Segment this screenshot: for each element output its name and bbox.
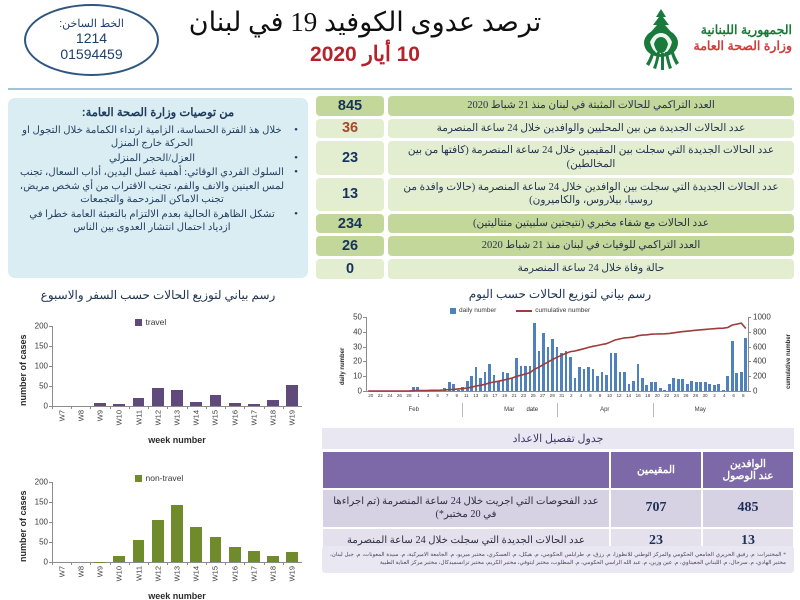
x-tick-label: 2: [570, 393, 573, 398]
bar: [672, 378, 675, 391]
bar: [248, 404, 260, 406]
bar: [229, 547, 241, 562]
bar: [538, 351, 541, 391]
x-tick-label: 20: [655, 393, 660, 398]
x-tick-label: 13: [473, 393, 478, 398]
bar: [210, 395, 222, 406]
secondary-y-axis: [748, 317, 749, 391]
x-tick-label: W16: [230, 410, 239, 425]
page-title: ترصد عدوى الكوفيد 19 في لبنان: [170, 6, 560, 38]
travel-cases-bar-chart: 050100150200W7W8W9W10W11W12W13W14W15W16W…: [8, 306, 308, 446]
bar: [267, 556, 279, 562]
x-tick-label: 20: [368, 393, 373, 398]
y-tick-label: 0: [26, 558, 48, 567]
x-tick-label: W17: [249, 566, 258, 581]
secondary-y-tick-label: 1000: [753, 313, 779, 322]
x-tick-label: W18: [269, 410, 278, 425]
x-tick: [90, 562, 91, 565]
bar: [520, 366, 523, 391]
y-tick-label: 200: [26, 478, 48, 487]
x-tick-label: 5: [436, 393, 439, 398]
bar: [152, 388, 164, 406]
y-tick: [363, 317, 366, 318]
x-tick: [187, 406, 188, 409]
hotline-label: الخط الساخن:: [59, 18, 124, 31]
x-tick: [167, 406, 168, 409]
header-divider: [8, 88, 792, 90]
detail-table: جدول تفصيل الاعداد الوافدين عند الوصول ا…: [322, 428, 794, 554]
bar: [94, 403, 106, 406]
bar: [722, 390, 725, 391]
x-tick-label: W10: [115, 410, 124, 425]
month-label: Apr: [557, 407, 653, 413]
table-row: العدد التراكمي للوفيات في لبنان منذ 21 ش…: [316, 236, 794, 256]
x-tick-label: W17: [249, 410, 258, 425]
bar: [529, 366, 532, 391]
bar: [133, 540, 145, 562]
legend-label-daily: daily number: [459, 307, 496, 314]
hotline-number-primary: 1214: [76, 30, 107, 46]
bar: [645, 385, 648, 391]
bar: [610, 353, 613, 391]
bar: [547, 347, 550, 391]
report-date: 10 أيار 2020: [170, 42, 560, 67]
column-header-arrivals-line2: عند الوصول: [722, 470, 773, 482]
bar: [466, 381, 469, 391]
hotline-number-secondary: 01594459: [60, 46, 122, 62]
x-tick: [244, 562, 245, 565]
bar: [484, 372, 487, 391]
bar: [133, 398, 145, 406]
daily-cases-combo-chart: 0102030405002004006008001000202224262813…: [330, 303, 792, 423]
x-tick-label: 26: [683, 393, 688, 398]
table-row: عدد الحالات الجديدة التي سجلت بين المقيم…: [316, 141, 794, 174]
stat-label: العدد التراكمي للحالات المثبتة في لبنان …: [388, 96, 794, 116]
stat-value: 23: [316, 141, 384, 174]
x-tick-label: 14: [626, 393, 631, 398]
detail-table-header-row: الوافدين عند الوصول المقيمين: [322, 451, 794, 489]
y-tick: [363, 391, 366, 392]
bar: [619, 372, 622, 391]
x-tick-label: W18: [269, 566, 278, 581]
bar: [677, 379, 680, 391]
x-tick-label: W8: [76, 410, 85, 421]
bar: [461, 387, 464, 391]
bar: [497, 381, 500, 391]
bar: [479, 378, 482, 391]
x-tick-label: 26: [397, 393, 402, 398]
bar: [641, 378, 644, 391]
x-tick-label: 15: [483, 393, 488, 398]
bar: [556, 347, 559, 391]
y-tick-label: 0: [26, 402, 48, 411]
bar: [565, 351, 568, 391]
bar: [267, 400, 279, 406]
bar: [686, 384, 689, 391]
y-axis-title: number of cases: [18, 490, 28, 562]
bar: [708, 384, 711, 391]
column-header-arrivals-line1: الوافدين: [722, 458, 773, 470]
x-tick-label: W13: [173, 566, 182, 581]
list-item: خلال هذ الفترة الحساسة، الزامية ارتداء ا…: [18, 124, 298, 151]
bar: [740, 372, 743, 391]
bar: [493, 375, 496, 391]
bar: [587, 367, 590, 391]
x-tick-label: W8: [76, 566, 85, 577]
bar: [614, 353, 617, 391]
stat-value: 0: [316, 259, 384, 279]
x-tick: [71, 406, 72, 409]
bar: [190, 402, 202, 406]
bar: [152, 520, 164, 562]
x-tick-label: W16: [230, 566, 239, 581]
report-page: الخط الساخن: 1214 01594459 ترصد عدوى الك…: [0, 0, 800, 600]
x-tick-label: 11: [464, 393, 469, 398]
y-axis-title: daily number: [340, 348, 346, 385]
stat-label: عدد الحالات الجديدة التي سجلت بين المقيم…: [388, 141, 794, 174]
x-axis-title: week number: [52, 591, 302, 600]
y-axis-title: number of cases: [18, 334, 28, 406]
x-tick-label: W9: [96, 566, 105, 577]
x-tick: [110, 406, 111, 409]
bar: [551, 339, 554, 391]
table-row: عدد الحالات مع شفاء مخبري (نتيجتين سلبيت…: [316, 214, 794, 234]
y-tick: [49, 542, 52, 543]
x-tick: [52, 406, 53, 409]
bar: [475, 367, 478, 391]
x-tick-label: 28: [406, 393, 411, 398]
x-tick-label: W10: [115, 566, 124, 581]
bar: [650, 382, 653, 391]
x-tick-label: 25: [531, 393, 536, 398]
secondary-y-tick-label: 800: [753, 327, 779, 336]
month-separator: [653, 403, 654, 417]
secondary-y-tick: [748, 361, 751, 362]
secondary-y-tick: [748, 347, 751, 348]
x-tick: [187, 562, 188, 565]
bar: [286, 552, 298, 562]
column-header-residents: المقيمين: [610, 451, 702, 489]
legend-label-cumulative: cumulative number: [535, 307, 590, 314]
bar: [524, 366, 527, 391]
table-row: عدد الحالات الجديدة من بين المحليين والو…: [316, 119, 794, 139]
x-tick: [148, 562, 149, 565]
y-tick-label: 50: [340, 313, 362, 322]
bar: [248, 551, 260, 562]
x-tick-label: 2: [713, 393, 716, 398]
x-tick-label: W13: [173, 410, 182, 425]
stat-label: عدد الحالات مع شفاء مخبري (نتيجتين سلبيت…: [388, 214, 794, 234]
bar: [511, 378, 514, 391]
x-tick-label: 3: [427, 393, 430, 398]
table-row: حالة وفاة خلال 24 ساعة المنصرمة 0: [316, 259, 794, 279]
bar: [286, 385, 298, 406]
x-tick-label: 7: [446, 393, 449, 398]
x-tick-label: 21: [511, 393, 516, 398]
x-tick-label: 12: [617, 393, 622, 398]
bar: [637, 364, 640, 391]
table-row: عدد الحالات الجديدة التي سجلت بين الوافد…: [316, 178, 794, 211]
bar: [171, 505, 183, 562]
x-tick: [129, 406, 130, 409]
x-tick-label: 22: [664, 393, 669, 398]
bar: [623, 372, 626, 391]
x-tick: [225, 406, 226, 409]
cell-description: عدد الفحوصات التي اجريت خلال 24 ساعة الم…: [322, 489, 610, 528]
x-tick-label: W14: [192, 410, 201, 425]
bar: [592, 369, 595, 391]
x-tick-label: W11: [134, 410, 143, 425]
republic-label: الجمهورية اللبنانية: [694, 23, 793, 39]
x-tick-label: 28: [693, 393, 698, 398]
bar: [744, 338, 747, 391]
x-tick: [71, 562, 72, 565]
bar: [457, 390, 460, 391]
x-tick-label: 9: [455, 393, 458, 398]
bar: [210, 537, 222, 562]
y-axis: [52, 326, 53, 406]
bar: [506, 373, 509, 391]
stat-label: عدد الحالات الجديدة التي سجلت بين الوافد…: [388, 178, 794, 211]
hotline-badge: الخط الساخن: 1214 01594459: [24, 4, 159, 76]
stat-label: حالة وفاة خلال 24 ساعة المنصرمة: [388, 259, 794, 279]
bar: [713, 385, 716, 391]
secondary-y-tick: [748, 391, 751, 392]
chart-legend: travel: [135, 317, 167, 327]
bar: [470, 376, 473, 391]
list-item: العزل/الحجر المنزلي: [18, 152, 298, 165]
cedar-tree-icon: [634, 8, 688, 70]
month-label: Feb: [366, 407, 462, 413]
secondary-y-tick-label: 200: [753, 372, 779, 381]
y-tick-label: 200: [26, 322, 48, 331]
recommendations-list: خلال هذ الفترة الحساسة، الزامية ارتداء ا…: [18, 124, 298, 235]
bar: [533, 323, 536, 391]
month-label: Mar: [462, 407, 558, 413]
bar: [699, 382, 702, 391]
daily-chart-title: رسم بياني لتوزيع الحالات حسب اليوم: [330, 287, 790, 302]
x-tick-label: 24: [674, 393, 679, 398]
y-tick: [49, 502, 52, 503]
legend-label: travel: [146, 317, 167, 327]
x-tick: [225, 562, 226, 565]
x-tick-label: 4: [723, 393, 726, 398]
y-tick-label: 0: [340, 387, 362, 396]
week-charts-title: رسم بياني لتوزيع الحالات حسب السفر والاس…: [8, 288, 308, 303]
secondary-y-tick: [748, 332, 751, 333]
legend-label: non-travel: [146, 473, 184, 483]
chart-legend: daily numbercumulative number: [450, 307, 590, 314]
bar: [717, 384, 720, 391]
x-tick-label: 8: [742, 393, 745, 398]
list-item: تشكل الظاهرة الحالية بعدم الالتزام بالتع…: [18, 208, 298, 235]
legend-swatch: [135, 319, 142, 326]
x-tick-label: 30: [702, 393, 707, 398]
x-tick-label: W19: [288, 410, 297, 425]
bar: [690, 381, 693, 391]
secondary-y-tick-label: 0: [753, 387, 779, 396]
y-tick: [363, 361, 366, 362]
legend-swatch: [135, 475, 142, 482]
x-tick-label: 6: [589, 393, 592, 398]
table-row: 485 707 عدد الفحوصات التي اجريت خلال 24 …: [322, 489, 794, 528]
stat-label: العدد التراكمي للوفيات في لبنان منذ 21 ش…: [388, 236, 794, 256]
x-tick-label: 1: [417, 393, 420, 398]
x-tick-label: 31: [559, 393, 564, 398]
bar: [190, 527, 202, 562]
x-tick-label: 8: [599, 393, 602, 398]
x-tick-label: 29: [550, 393, 555, 398]
x-tick: [167, 562, 168, 565]
recommendations-panel: من توصيات وزارة الصحة العامة: خلال هذ ال…: [8, 98, 308, 278]
x-tick: [264, 406, 265, 409]
x-tick-label: 18: [645, 393, 650, 398]
stat-value: 13: [316, 178, 384, 211]
secondary-y-axis-title: cumulative number: [786, 334, 792, 389]
bar: [731, 341, 734, 391]
x-tick-label: 23: [521, 393, 526, 398]
secondary-y-tick: [748, 376, 751, 377]
secondary-y-tick: [748, 317, 751, 318]
bar: [726, 376, 729, 391]
bar: [412, 387, 415, 391]
bar: [416, 387, 419, 391]
x-tick-label: W7: [57, 566, 66, 577]
bar: [430, 390, 433, 391]
x-axis-title: date: [526, 407, 538, 413]
x-tick: [148, 406, 149, 409]
x-tick-label: W12: [153, 410, 162, 425]
laboratories-footnote: * المختبرات: م. رفيق الحريري الجامعي الح…: [322, 546, 794, 573]
x-tick-label: W19: [288, 566, 297, 581]
month-label: May: [653, 407, 749, 413]
bar: [515, 358, 518, 391]
x-tick: [264, 562, 265, 565]
secondary-y-tick-label: 400: [753, 357, 779, 366]
x-tick: [206, 562, 207, 565]
x-tick: [283, 562, 284, 565]
y-axis: [366, 317, 367, 391]
non-travel-cases-bar-chart: 050100150200W7W8W9W10W11W12W13W14W15W16W…: [8, 462, 308, 600]
bar: [735, 373, 738, 391]
ministry-label: وزارة الصحة العامة: [694, 39, 793, 55]
bar: [601, 372, 604, 391]
stat-value: 234: [316, 214, 384, 234]
y-tick-label: 100: [26, 362, 48, 371]
bar: [704, 382, 707, 391]
bar: [113, 404, 125, 406]
bar: [663, 390, 666, 391]
x-axis-title: week number: [52, 435, 302, 445]
table-row: العدد التراكمي للحالات المثبتة في لبنان …: [316, 96, 794, 116]
stat-label: عدد الحالات الجديدة من بين المحليين والو…: [388, 119, 794, 139]
x-tick-label: W11: [134, 566, 143, 581]
bar: [229, 403, 241, 406]
x-tick: [244, 406, 245, 409]
bar: [654, 382, 657, 391]
ministry-text: الجمهورية اللبنانية وزارة الصحة العامة: [694, 23, 793, 54]
bar: [560, 353, 563, 391]
bar: [443, 388, 446, 391]
bar: [605, 375, 608, 391]
bar: [452, 384, 455, 391]
x-tick-label: 22: [378, 393, 383, 398]
key-statistics-table: العدد التراكمي للحالات المثبتة في لبنان …: [316, 96, 794, 282]
x-tick-label: 10: [607, 393, 612, 398]
month-separator: [557, 403, 558, 417]
y-tick: [49, 482, 52, 483]
column-header-description: [322, 451, 610, 489]
x-tick: [206, 406, 207, 409]
cell-residents: 707: [610, 489, 702, 528]
y-tick-label: 50: [26, 382, 48, 391]
y-tick: [49, 522, 52, 523]
bar: [628, 384, 631, 391]
title-block: ترصد عدوى الكوفيد 19 في لبنان 10 أيار 20…: [170, 6, 560, 67]
x-tick-label: 17: [492, 393, 497, 398]
y-tick: [363, 332, 366, 333]
detail-table-title: جدول تفصيل الاعداد: [322, 428, 794, 451]
y-tick-label: 40: [340, 327, 362, 336]
bar: [448, 382, 451, 391]
x-tick: [52, 562, 53, 565]
bar: [574, 378, 577, 391]
list-item: السلوك الفردي الوقائي: أهمية غسل اليدين،…: [18, 166, 298, 206]
stat-value: 26: [316, 236, 384, 256]
page-header: الخط الساخن: 1214 01594459 ترصد عدوى الك…: [0, 0, 800, 92]
x-tick-label: W14: [192, 566, 201, 581]
x-tick-label: 4: [580, 393, 583, 398]
x-tick-label: 27: [540, 393, 545, 398]
x-axis: [366, 391, 748, 392]
x-tick: [110, 562, 111, 565]
bar: [659, 388, 662, 391]
y-tick-label: 50: [26, 538, 48, 547]
y-axis: [52, 482, 53, 562]
y-tick: [49, 346, 52, 347]
y-tick-label: 150: [26, 342, 48, 351]
bar: [578, 367, 581, 391]
bar: [681, 379, 684, 391]
recommendations-title: من توصيات وزارة الصحة العامة:: [18, 105, 298, 119]
x-tick-label: W12: [153, 566, 162, 581]
bar: [113, 556, 125, 562]
legend-swatch-cumulative: [516, 310, 532, 312]
bar: [695, 382, 698, 391]
x-tick-label: 19: [502, 393, 507, 398]
y-tick: [49, 326, 52, 327]
month-separator: [462, 403, 463, 417]
chart-legend: non-travel: [135, 473, 184, 483]
y-tick-label: 100: [26, 518, 48, 527]
bar: [668, 384, 671, 391]
bar: [542, 333, 545, 391]
x-tick-label: 6: [732, 393, 735, 398]
bar: [632, 381, 635, 391]
stat-value: 36: [316, 119, 384, 139]
x-tick-label: W15: [211, 566, 220, 581]
secondary-y-tick-label: 600: [753, 342, 779, 351]
bar: [569, 357, 572, 391]
legend-swatch-daily: [450, 308, 456, 314]
x-tick: [129, 562, 130, 565]
x-tick-label: 24: [387, 393, 392, 398]
y-tick: [49, 366, 52, 367]
cell-arrivals: 485: [702, 489, 794, 528]
bar: [583, 369, 586, 391]
y-tick: [363, 376, 366, 377]
bar: [171, 390, 183, 406]
